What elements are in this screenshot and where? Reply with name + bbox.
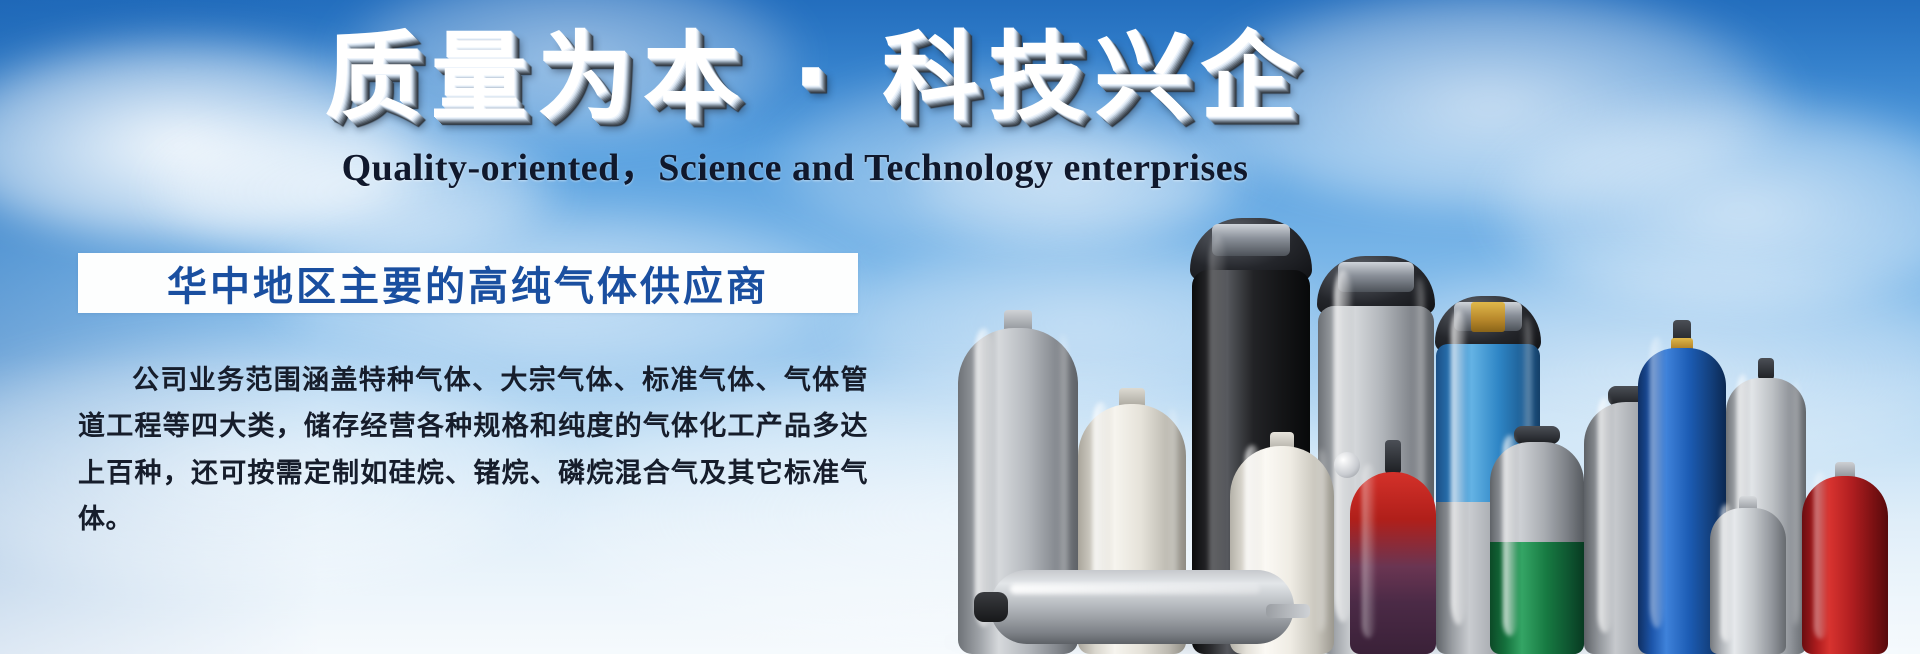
cylinder-green-silver (1490, 426, 1584, 654)
cylinder-horizontal-grey (974, 570, 1294, 644)
promo-banner: 质量为本 · 科技兴企 Quality-oriented，Science and… (0, 0, 1920, 654)
page-title: 质量为本 · 科技兴企 (325, 24, 1265, 132)
brass-valve (1471, 302, 1505, 332)
cylinder-red-short (1802, 464, 1888, 654)
tagline-text: 华中地区主要的高纯气体供应商 (167, 254, 769, 312)
english-subtitle: Quality-oriented，Science and Technology … (325, 136, 1265, 191)
cylinder-red-purple-small (1350, 456, 1436, 654)
description-paragraph: 公司业务范围涵盖特种气体、大宗气体、标准气体、气体管道工程等四大类，储存经营各种… (78, 358, 868, 544)
tagline-banner: 华中地区主要的高纯气体供应商 (78, 253, 858, 313)
pressure-gauge-icon (1334, 452, 1360, 478)
valve-knob (1758, 358, 1774, 380)
cylinder-aluminium-short (1710, 498, 1786, 654)
valve-knob (1385, 440, 1401, 474)
